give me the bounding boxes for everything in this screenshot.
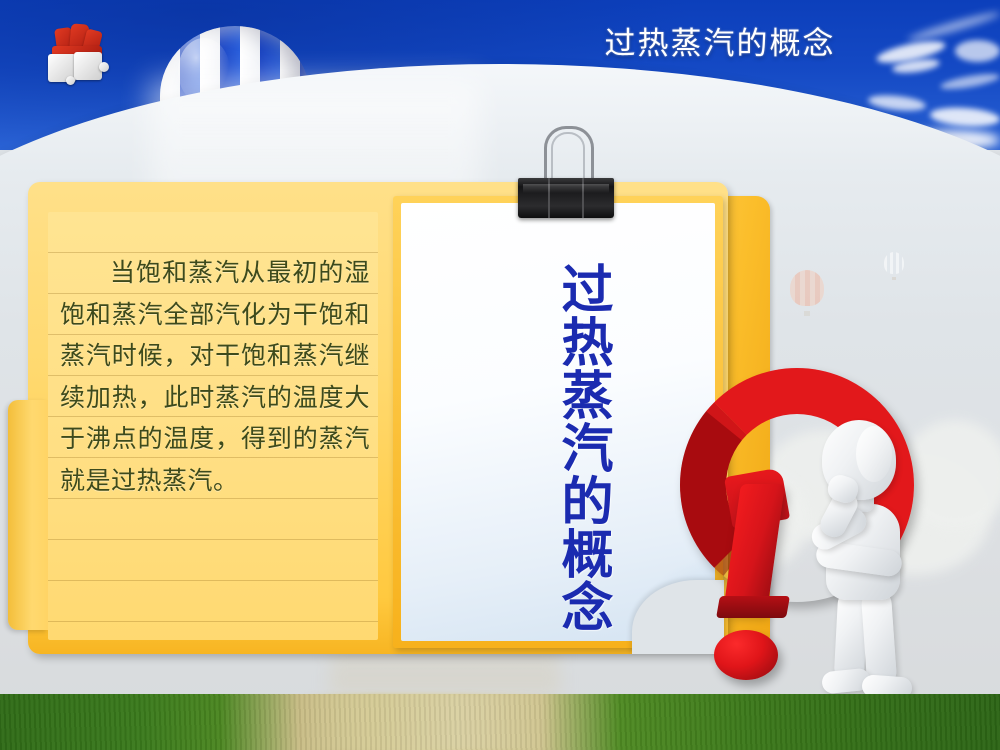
question-mark-base — [716, 596, 790, 618]
thinking-figure — [800, 420, 930, 700]
slide-title: 过热蒸汽的概念 — [560, 22, 880, 66]
cloud-icon — [955, 40, 1000, 62]
distant-balloon-white — [884, 252, 904, 280]
presentation-slide: 过热蒸汽的概念 当饱和蒸汽从最初的湿饱和蒸汽全部汽化为干饱和蒸汽时候，对干饱和蒸… — [0, 0, 1000, 750]
balloon-basket — [804, 311, 809, 316]
puzzle-flame-logo — [42, 24, 112, 86]
clip-gloss — [523, 184, 609, 193]
grass-texture — [0, 694, 1000, 750]
distant-balloon-pink — [790, 270, 824, 316]
puzzle-piece-icon — [74, 52, 102, 80]
balloon-envelope — [884, 252, 904, 274]
puzzle-knob-icon — [66, 76, 75, 85]
balloon-envelope — [790, 270, 824, 306]
puzzle-knob-icon — [99, 62, 109, 72]
folder-side-tab — [8, 400, 48, 630]
vertical-heading: 过热蒸汽的概念 — [520, 262, 608, 633]
figure-head-highlight — [856, 426, 892, 482]
body-paragraph: 当饱和蒸汽从最初的湿饱和蒸汽全部汽化为干饱和蒸汽时候，对干饱和蒸汽继续加热，此时… — [60, 252, 370, 501]
balloon-basket — [892, 277, 895, 280]
binder-clip — [518, 126, 614, 208]
question-mark-dot — [714, 630, 778, 680]
